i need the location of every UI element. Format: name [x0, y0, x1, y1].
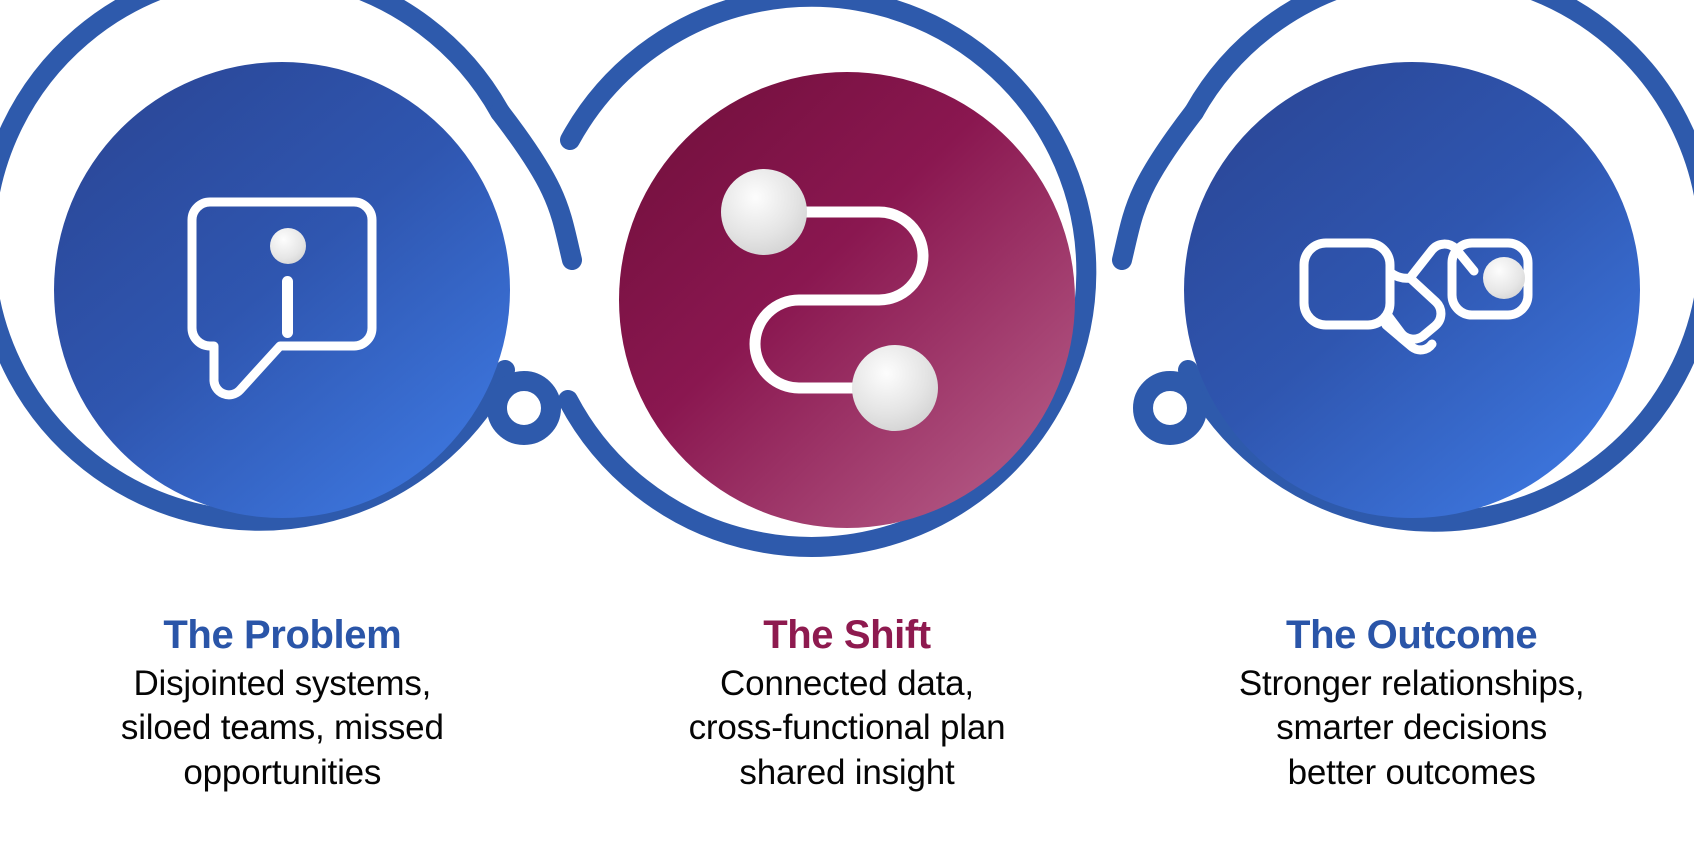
path-node-start — [721, 169, 807, 255]
step-body-line: opportunities — [22, 751, 543, 795]
info-stem — [282, 276, 293, 338]
step-circle-outcome[interactable] — [1184, 62, 1640, 518]
caption-problem: The Problem Disjointed systems, siloed t… — [0, 612, 565, 795]
caption-shift: The Shift Connected data, cross-function… — [565, 612, 1130, 795]
step-body-line: cross-functional plan — [587, 706, 1108, 750]
step-body-line: Stronger relationships, — [1151, 662, 1672, 706]
step-body-line: smarter decisions — [1151, 706, 1672, 750]
step-body-line: Connected data, — [587, 662, 1108, 706]
step-title-shift: The Shift — [587, 612, 1108, 658]
infographic-canvas: The Problem Disjointed systems, siloed t… — [0, 0, 1694, 862]
ring-link-2-3 — [1122, 112, 1194, 260]
connector-node-1-2[interactable] — [497, 381, 551, 435]
connector-node-2-3[interactable] — [1143, 381, 1197, 435]
caption-outcome: The Outcome Stronger relationships, smar… — [1129, 612, 1694, 795]
step-body-line: Disjointed systems, — [22, 662, 543, 706]
ring-link-1-2 — [500, 112, 572, 260]
step-title-problem: The Problem — [22, 612, 543, 658]
step-body-line: shared insight — [587, 751, 1108, 795]
captions-row: The Problem Disjointed systems, siloed t… — [0, 612, 1694, 795]
step-body-line: better outcomes — [1151, 751, 1672, 795]
step-body-outcome: Stronger relationships, smarter decision… — [1151, 662, 1672, 795]
handshake-dot — [1483, 257, 1525, 299]
step-body-line: siloed teams, missed — [22, 706, 543, 750]
step-body-problem: Disjointed systems, siloed teams, missed… — [22, 662, 543, 795]
info-dot — [270, 228, 306, 264]
step-title-outcome: The Outcome — [1151, 612, 1672, 658]
step-body-shift: Connected data, cross-functional plan sh… — [587, 662, 1108, 795]
path-node-end — [852, 345, 938, 431]
